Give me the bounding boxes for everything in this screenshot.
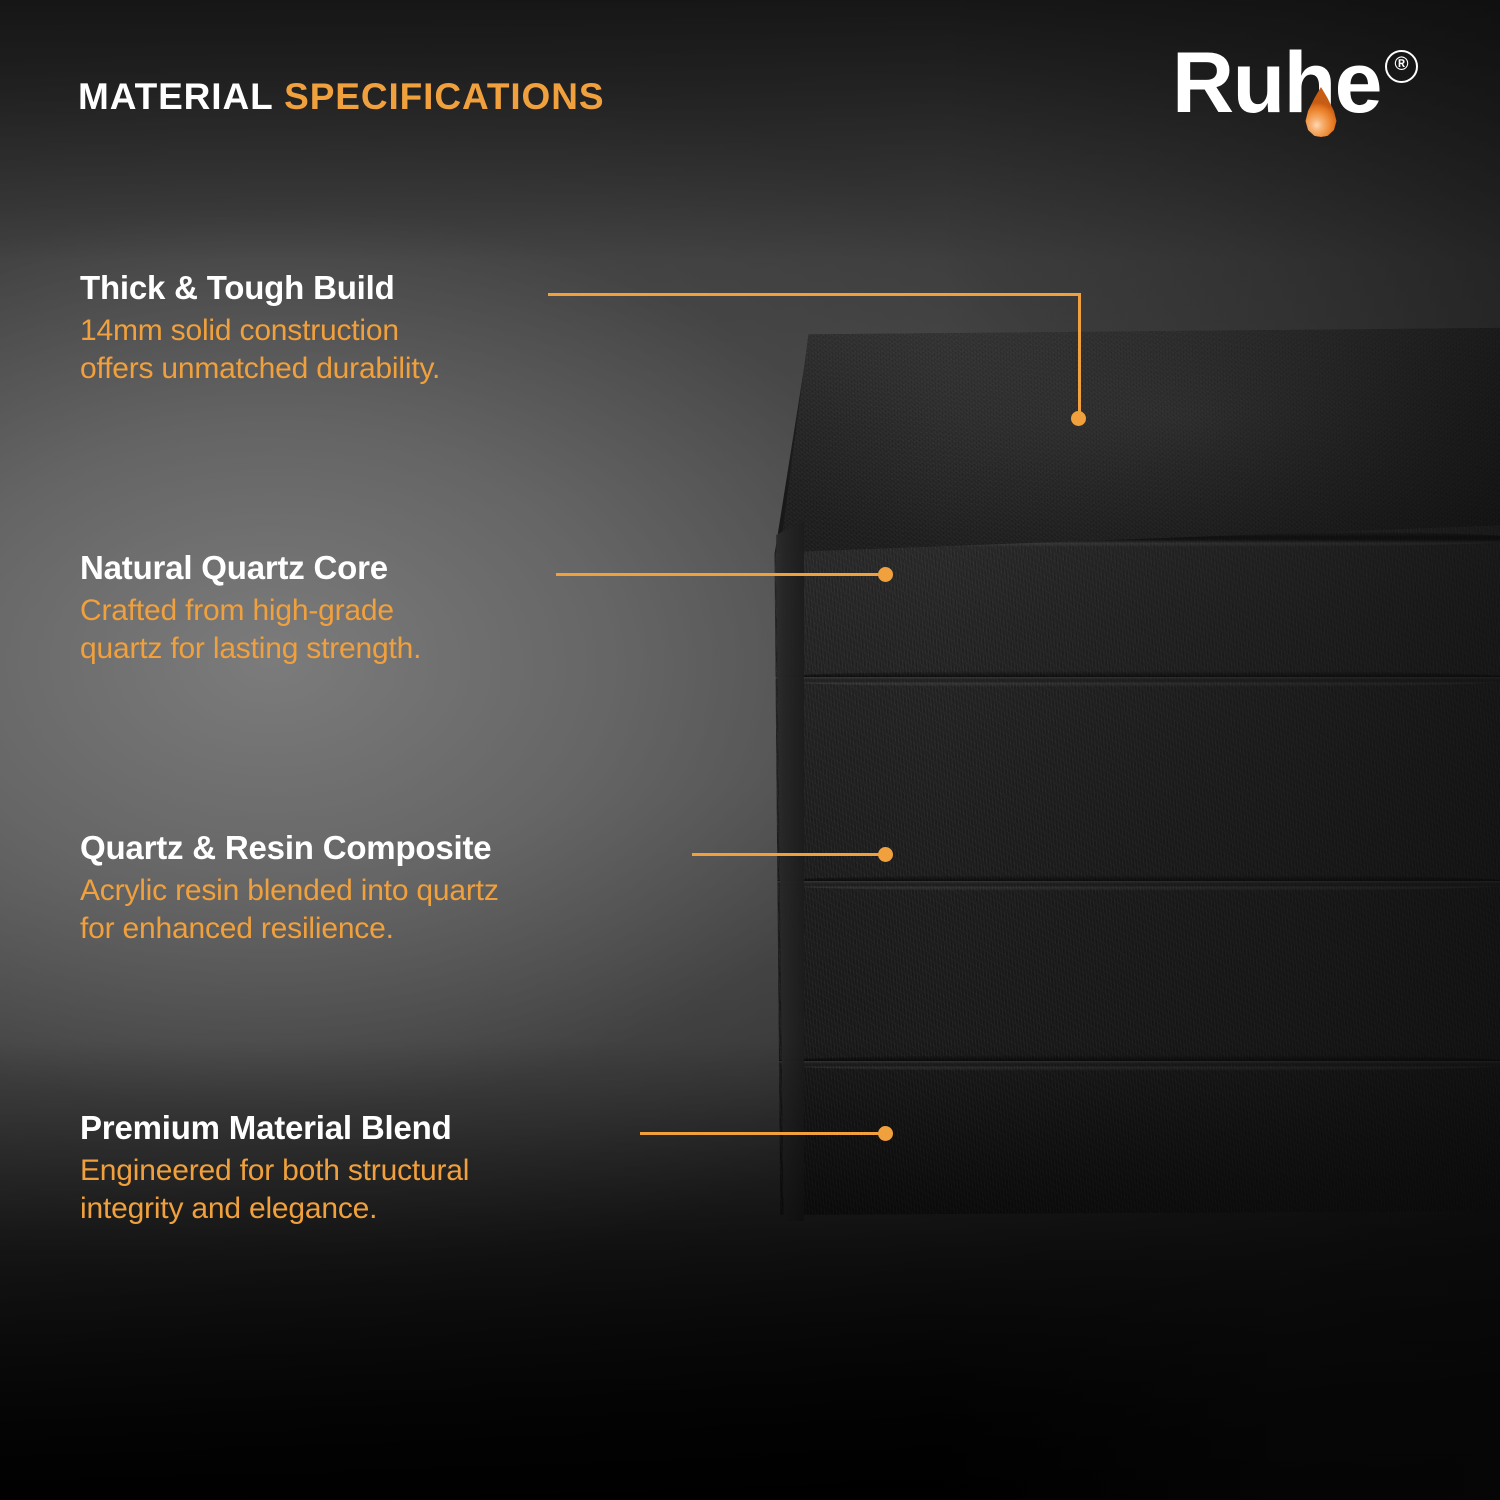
callout-title: Quartz & Resin Composite xyxy=(80,828,499,868)
page-title-accent: SPECIFICATIONS xyxy=(284,76,604,117)
connector-line-2 xyxy=(556,573,890,576)
connector-line-3 xyxy=(692,853,890,856)
callout-thick-tough-build: Thick & Tough Build 14mm solid construct… xyxy=(80,268,440,388)
product-image-stacked-slab xyxy=(770,325,1500,1215)
connector-line-1-vertical xyxy=(1078,293,1081,421)
slab-seam-highlight xyxy=(770,1061,1500,1065)
connector-dot-1 xyxy=(1071,411,1086,426)
page-title-primary: MATERIAL xyxy=(78,76,273,117)
brand-wordmark: Ruhe xyxy=(1172,40,1381,126)
callout-description: Acrylic resin blended into quartz for en… xyxy=(80,872,499,948)
callout-description: Crafted from high-grade quartz for lasti… xyxy=(80,592,421,668)
callout-premium-material-blend: Premium Material Blend Engineered for bo… xyxy=(80,1108,469,1228)
connector-dot-2 xyxy=(878,567,893,582)
callout-description: Engineered for both structural integrity… xyxy=(80,1152,469,1228)
callout-natural-quartz-core: Natural Quartz Core Crafted from high-gr… xyxy=(80,548,421,668)
slab-layer-seam xyxy=(776,1055,1500,1071)
connector-dot-3 xyxy=(878,847,893,862)
slab-layer-seam xyxy=(776,875,1500,891)
connector-dot-4 xyxy=(878,1126,893,1141)
slab-seam-highlight xyxy=(770,677,1500,681)
callout-description: 14mm solid construction offers unmatched… xyxy=(80,312,440,388)
callout-title: Premium Material Blend xyxy=(80,1108,469,1148)
connector-line-4 xyxy=(640,1132,890,1135)
page-title: MATERIAL SPECIFICATIONS xyxy=(78,76,604,118)
slab-top-surface xyxy=(770,325,1500,560)
slab-front-layers xyxy=(770,525,1500,1215)
material-specifications-infographic: MATERIAL SPECIFICATIONS Ruhe ® Thick & T… xyxy=(0,0,1500,1500)
callout-title: Natural Quartz Core xyxy=(80,548,421,588)
brand-logo[interactable]: Ruhe ® xyxy=(1172,38,1422,143)
callout-title: Thick & Tough Build xyxy=(80,268,440,308)
registered-trademark-icon: ® xyxy=(1385,50,1418,83)
connector-line-1-horizontal xyxy=(548,293,1081,296)
slab-texture-front xyxy=(770,525,1500,1215)
slab-layer-seam xyxy=(776,671,1500,687)
slab-seam-highlight xyxy=(770,881,1500,885)
slab-texture-top xyxy=(770,325,1500,560)
callout-quartz-resin-composite: Quartz & Resin Composite Acrylic resin b… xyxy=(80,828,499,948)
